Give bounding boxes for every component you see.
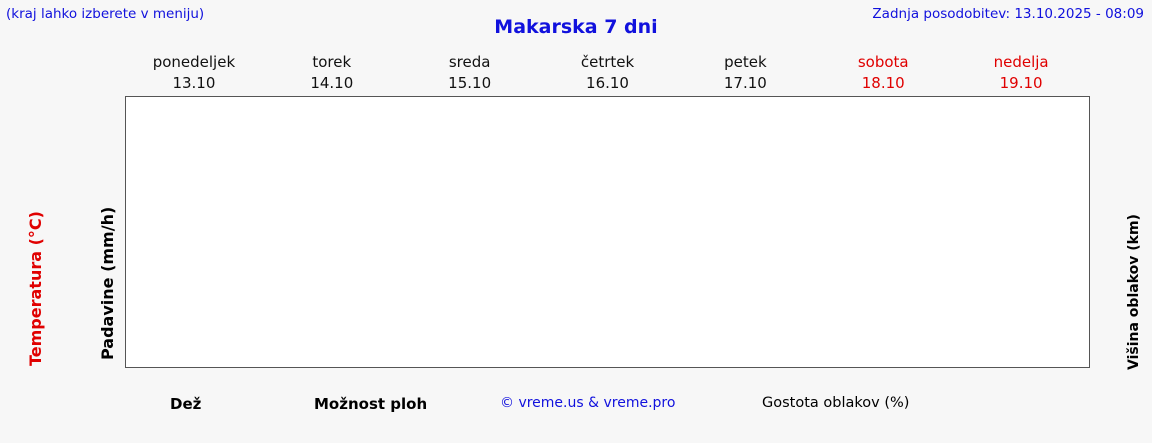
day-date: 16.10 xyxy=(539,73,677,94)
cloudheight-axis-title-text: Višina oblakov (km) xyxy=(1126,214,1142,370)
day-header-petek: petek17.10 xyxy=(676,50,814,95)
day-date: 15.10 xyxy=(401,73,539,94)
cloud-density-legend-title: Gostota oblakov (%) xyxy=(762,395,909,411)
day-name: četrtek xyxy=(539,52,677,73)
legend-rain-label: Dež xyxy=(170,395,201,413)
chart-plot-area xyxy=(126,173,1089,367)
day-header-četrtek: četrtek16.10 xyxy=(539,50,677,95)
day-header-ponedeljek: ponedeljek13.10 xyxy=(125,50,263,95)
day-header-sobota: sobota18.10 xyxy=(814,50,952,95)
legend-showers-label: Možnost ploh xyxy=(314,395,427,413)
day-header-band: ponedeljek13.10torek14.10sreda15.10četrt… xyxy=(125,50,1090,95)
day-name: sreda xyxy=(401,52,539,73)
cloudheight-axis-title: Višina oblakov (km) xyxy=(1124,160,1148,375)
day-name: nedelja xyxy=(952,52,1090,73)
day-header-sreda: sreda15.10 xyxy=(401,50,539,95)
weather-icon-row xyxy=(126,97,1089,141)
rain-swatch xyxy=(128,398,162,409)
time-axis xyxy=(126,368,1089,386)
day-date: 17.10 xyxy=(676,73,814,94)
precipitation-axis-title: Padavine (mm/h) xyxy=(78,168,102,368)
wind-barb-row xyxy=(126,141,1089,173)
day-name: ponedeljek xyxy=(125,52,263,73)
day-name: sobota xyxy=(814,52,952,73)
temperature-axis-title: Temperatura (°C) xyxy=(6,168,30,368)
day-date: 18.10 xyxy=(814,73,952,94)
chart-legend: Dež Možnost ploh © vreme.us & vreme.pro … xyxy=(0,388,1152,428)
precipitation-axis-title-text: Padavine (mm/h) xyxy=(98,207,117,360)
legend-showers: Možnost ploh xyxy=(272,393,427,413)
day-date: 14.10 xyxy=(263,73,401,94)
day-header-nedelja: nedelja19.10 xyxy=(952,50,1090,95)
last-update-label: Zadnja posodobitev: 13.10.2025 - 08:09 xyxy=(872,6,1144,22)
showers-swatch xyxy=(272,398,306,409)
day-date: 13.10 xyxy=(125,73,263,94)
day-name: torek xyxy=(263,52,401,73)
day-header-torek: torek14.10 xyxy=(263,50,401,95)
legend-rain: Dež xyxy=(128,393,201,413)
day-date: 19.10 xyxy=(952,73,1090,94)
copyright-link[interactable]: © vreme.us & vreme.pro xyxy=(500,395,675,411)
temperature-axis-title-text: Temperatura (°C) xyxy=(26,211,45,366)
day-name: petek xyxy=(676,52,814,73)
